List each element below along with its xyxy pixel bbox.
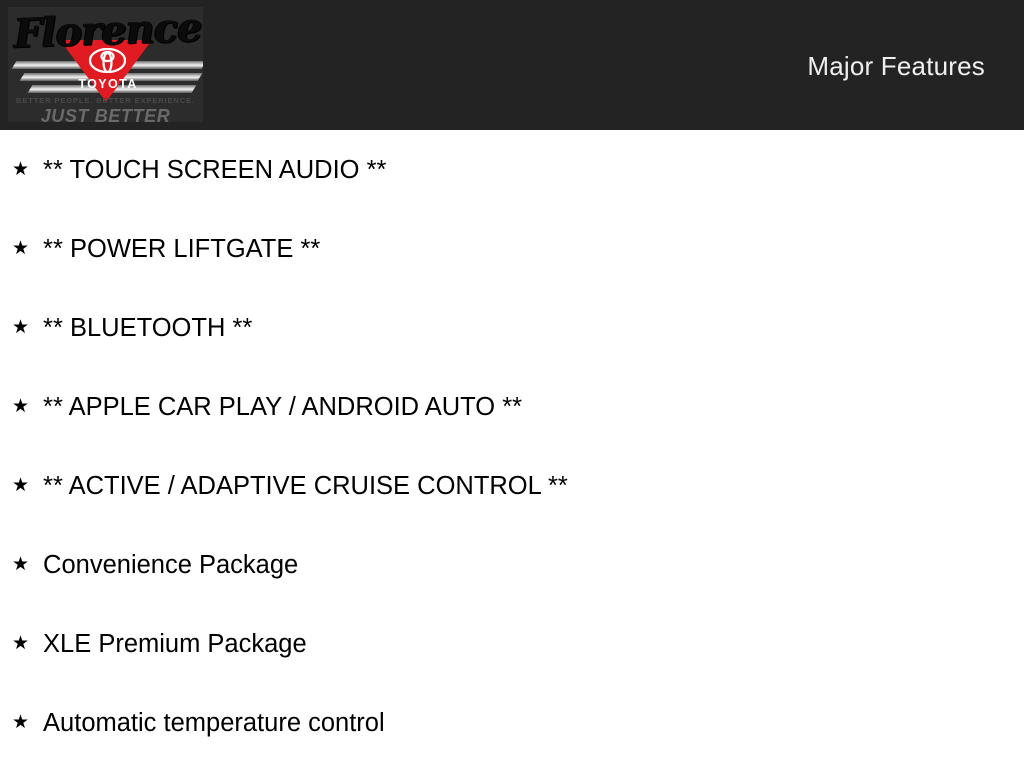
- star-icon: ★: [12, 713, 29, 732]
- list-item: ★ ** POWER LIFTGATE **: [0, 209, 1024, 288]
- major-features-page: TOYOTA Florence BETTER PEOPLE. BETTER EX…: [0, 0, 1024, 768]
- feature-label: ** POWER LIFTGATE **: [43, 234, 320, 264]
- star-icon: ★: [12, 476, 29, 495]
- feature-label: ** BLUETOOTH **: [43, 313, 252, 343]
- dealer-logo-artwork: TOYOTA Florence BETTER PEOPLE. BETTER EX…: [8, 7, 203, 122]
- logo-tagline-small: BETTER PEOPLE. BETTER EXPERIENCE.: [8, 96, 203, 105]
- list-item: ★ XLE Premium Package: [0, 604, 1024, 683]
- logo-tagline-large: JUST BETTER: [8, 106, 203, 122]
- star-icon: ★: [12, 160, 29, 179]
- list-item: ★ Convenience Package: [0, 525, 1024, 604]
- feature-label: XLE Premium Package: [43, 629, 307, 659]
- list-item: ★ ** ACTIVE / ADAPTIVE CRUISE CONTROL **: [0, 446, 1024, 525]
- star-icon: ★: [12, 555, 29, 574]
- header-bar: TOYOTA Florence BETTER PEOPLE. BETTER EX…: [0, 0, 1024, 130]
- list-item: ★ ** TOUCH SCREEN AUDIO **: [0, 130, 1024, 209]
- star-icon: ★: [12, 634, 29, 653]
- dealer-name-script: Florence: [13, 7, 200, 56]
- features-list: ★ ** TOUCH SCREEN AUDIO ** ★ ** POWER LI…: [0, 130, 1024, 762]
- list-item: ★ Automatic temperature control: [0, 683, 1024, 762]
- feature-label: ** APPLE CAR PLAY / ANDROID AUTO **: [43, 392, 522, 422]
- list-item: ★ ** APPLE CAR PLAY / ANDROID AUTO **: [0, 367, 1024, 446]
- page-title: Major Features: [807, 51, 985, 81]
- feature-label: ** ACTIVE / ADAPTIVE CRUISE CONTROL **: [43, 471, 568, 501]
- dealer-logo[interactable]: TOYOTA Florence BETTER PEOPLE. BETTER EX…: [8, 7, 203, 122]
- feature-label: Convenience Package: [43, 550, 298, 580]
- feature-label: Automatic temperature control: [43, 708, 385, 738]
- star-icon: ★: [12, 397, 29, 416]
- toyota-wordmark: TOYOTA: [60, 77, 156, 91]
- list-item: ★ ** BLUETOOTH **: [0, 288, 1024, 367]
- star-icon: ★: [12, 318, 29, 337]
- feature-label: ** TOUCH SCREEN AUDIO **: [43, 155, 386, 185]
- star-icon: ★: [12, 239, 29, 258]
